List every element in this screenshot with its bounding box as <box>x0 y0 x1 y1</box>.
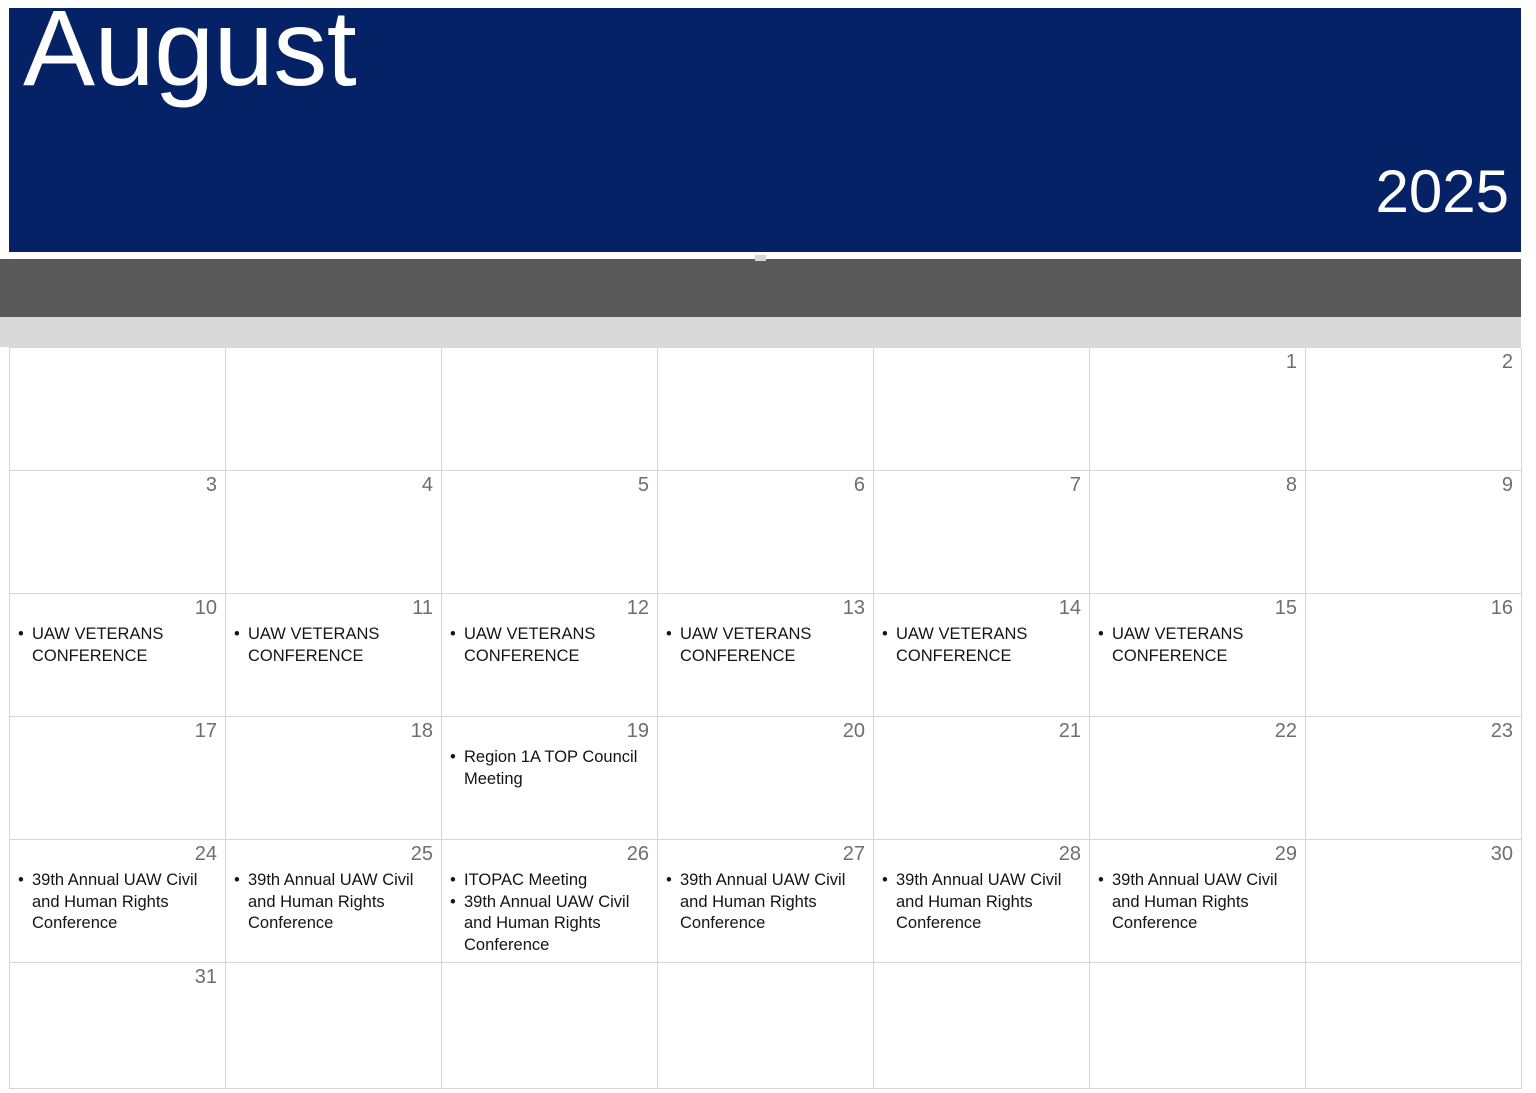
event-list: 39th Annual UAW Civil and Human Rights C… <box>880 870 1085 935</box>
day-cell-7[interactable]: 7 <box>874 471 1090 594</box>
day-cell-9[interactable]: 9 <box>1306 471 1522 594</box>
event-item[interactable]: UAW VETERANS CONFERENCE <box>680 624 869 667</box>
day-cell-empty[interactable] <box>874 348 1090 471</box>
calendar-week-row: 2439th Annual UAW Civil and Human Rights… <box>10 840 1521 963</box>
day-number: 31 <box>195 965 217 989</box>
day-cell-20[interactable]: 20 <box>658 717 874 840</box>
day-number: 4 <box>422 473 433 497</box>
event-item[interactable]: 39th Annual UAW Civil and Human Rights C… <box>680 870 869 935</box>
event-list: UAW VETERANS CONFERENCE <box>880 624 1085 667</box>
day-number: 30 <box>1491 842 1513 866</box>
event-item[interactable]: 39th Annual UAW Civil and Human Rights C… <box>896 870 1085 935</box>
day-number: 8 <box>1286 473 1297 497</box>
calendar-week-row: 10UAW VETERANS CONFERENCE11UAW VETERANS … <box>10 594 1521 717</box>
day-number: 21 <box>1059 719 1081 743</box>
weekday-header-remnant <box>755 255 766 261</box>
event-item[interactable]: UAW VETERANS CONFERENCE <box>896 624 1085 667</box>
day-number: 3 <box>206 473 217 497</box>
event-list: UAW VETERANS CONFERENCE <box>664 624 869 667</box>
page-title: August <box>23 0 356 102</box>
day-number: 5 <box>638 473 649 497</box>
day-number: 6 <box>854 473 865 497</box>
day-number: 16 <box>1491 596 1513 620</box>
event-list: ITOPAC Meeting39th Annual UAW Civil and … <box>448 870 653 956</box>
day-cell-8[interactable]: 8 <box>1090 471 1306 594</box>
day-cell-2[interactable]: 2 <box>1306 348 1522 471</box>
day-cell-25[interactable]: 2539th Annual UAW Civil and Human Rights… <box>226 840 442 963</box>
day-cell-empty[interactable] <box>10 348 226 471</box>
event-list: 39th Annual UAW Civil and Human Rights C… <box>232 870 437 935</box>
event-item[interactable]: UAW VETERANS CONFERENCE <box>1112 624 1301 667</box>
day-number: 28 <box>1059 842 1081 866</box>
day-number: 12 <box>627 596 649 620</box>
day-cell-empty[interactable] <box>442 348 658 471</box>
day-number: 1 <box>1286 350 1297 374</box>
day-number: 24 <box>195 842 217 866</box>
day-cell-14[interactable]: 14UAW VETERANS CONFERENCE <box>874 594 1090 717</box>
day-cell-19[interactable]: 19Region 1A TOP Council Meeting <box>442 717 658 840</box>
day-number: 18 <box>411 719 433 743</box>
day-cell-22[interactable]: 22 <box>1090 717 1306 840</box>
event-list: 39th Annual UAW Civil and Human Rights C… <box>664 870 869 935</box>
day-number: 22 <box>1275 719 1297 743</box>
day-number: 9 <box>1502 473 1513 497</box>
event-list: 39th Annual UAW Civil and Human Rights C… <box>16 870 221 935</box>
day-cell-empty[interactable] <box>658 348 874 471</box>
event-item[interactable]: 39th Annual UAW Civil and Human Rights C… <box>248 870 437 935</box>
day-cell-4[interactable]: 4 <box>226 471 442 594</box>
day-cell-12[interactable]: 12UAW VETERANS CONFERENCE <box>442 594 658 717</box>
day-number: 29 <box>1275 842 1297 866</box>
day-cell-1[interactable]: 1 <box>1090 348 1306 471</box>
event-item[interactable]: UAW VETERANS CONFERENCE <box>464 624 653 667</box>
day-cell-empty[interactable] <box>226 963 442 1089</box>
calendar-week-row: 171819Region 1A TOP Council Meeting20212… <box>10 717 1521 840</box>
day-number: 23 <box>1491 719 1513 743</box>
day-cell-17[interactable]: 17 <box>10 717 226 840</box>
day-cell-empty[interactable] <box>658 963 874 1089</box>
day-number: 10 <box>195 596 217 620</box>
event-item[interactable]: 39th Annual UAW Civil and Human Rights C… <box>32 870 221 935</box>
day-cell-31[interactable]: 31 <box>10 963 226 1089</box>
day-number: 13 <box>843 596 865 620</box>
day-number: 20 <box>843 719 865 743</box>
calendar-week-row: 12 <box>10 348 1521 471</box>
day-cell-empty[interactable] <box>1306 963 1522 1089</box>
day-cell-27[interactable]: 2739th Annual UAW Civil and Human Rights… <box>658 840 874 963</box>
calendar-week-row: 3456789 <box>10 471 1521 594</box>
calendar-grid: 12345678910UAW VETERANS CONFERENCE11UAW … <box>9 347 1521 1089</box>
event-list: UAW VETERANS CONFERENCE <box>16 624 221 667</box>
calendar-week-row: 31 <box>10 963 1521 1089</box>
day-cell-6[interactable]: 6 <box>658 471 874 594</box>
day-number: 19 <box>627 719 649 743</box>
event-list: 39th Annual UAW Civil and Human Rights C… <box>1096 870 1301 935</box>
day-number: 7 <box>1070 473 1081 497</box>
day-cell-empty[interactable] <box>874 963 1090 1089</box>
event-list: UAW VETERANS CONFERENCE <box>448 624 653 667</box>
event-item[interactable]: ITOPAC Meeting <box>464 870 653 892</box>
event-item[interactable]: UAW VETERANS CONFERENCE <box>248 624 437 667</box>
event-item[interactable]: Region 1A TOP Council Meeting <box>464 747 653 790</box>
event-item[interactable]: 39th Annual UAW Civil and Human Rights C… <box>1112 870 1301 935</box>
day-cell-empty[interactable] <box>442 963 658 1089</box>
day-number: 11 <box>412 596 433 620</box>
day-number: 26 <box>627 842 649 866</box>
day-cell-18[interactable]: 18 <box>226 717 442 840</box>
event-list: Region 1A TOP Council Meeting <box>448 747 653 790</box>
day-cell-23[interactable]: 23 <box>1306 717 1522 840</box>
day-cell-29[interactable]: 2939th Annual UAW Civil and Human Rights… <box>1090 840 1306 963</box>
event-item[interactable]: UAW VETERANS CONFERENCE <box>32 624 221 667</box>
event-item[interactable]: 39th Annual UAW Civil and Human Rights C… <box>464 892 653 957</box>
day-cell-26[interactable]: 26ITOPAC Meeting39th Annual UAW Civil an… <box>442 840 658 963</box>
year-label: 2025 <box>1376 162 1509 222</box>
day-number: 27 <box>843 842 865 866</box>
day-cell-5[interactable]: 5 <box>442 471 658 594</box>
day-cell-30[interactable]: 30 <box>1306 840 1522 963</box>
day-number: 15 <box>1275 596 1297 620</box>
day-cell-empty[interactable] <box>226 348 442 471</box>
day-cell-11[interactable]: 11UAW VETERANS CONFERENCE <box>226 594 442 717</box>
calendar-masthead: August 2025 <box>9 8 1521 252</box>
event-list: UAW VETERANS CONFERENCE <box>1096 624 1301 667</box>
day-number: 2 <box>1502 350 1513 374</box>
day-cell-21[interactable]: 21 <box>874 717 1090 840</box>
day-number: 17 <box>195 719 217 743</box>
day-cell-13[interactable]: 13UAW VETERANS CONFERENCE <box>658 594 874 717</box>
calendar-page: August 2025 12345678910UAW VETERANS CONF… <box>0 0 1536 1093</box>
day-cell-10[interactable]: 10UAW VETERANS CONFERENCE <box>10 594 226 717</box>
day-number: 14 <box>1059 596 1081 620</box>
day-cell-16[interactable]: 16 <box>1306 594 1522 717</box>
event-list: UAW VETERANS CONFERENCE <box>232 624 437 667</box>
day-cell-15[interactable]: 15UAW VETERANS CONFERENCE <box>1090 594 1306 717</box>
day-number: 25 <box>411 842 433 866</box>
day-cell-3[interactable]: 3 <box>10 471 226 594</box>
day-cell-empty[interactable] <box>1090 963 1306 1089</box>
day-cell-28[interactable]: 2839th Annual UAW Civil and Human Rights… <box>874 840 1090 963</box>
light-divider-bar <box>0 317 1521 347</box>
dark-divider-bar <box>0 259 1521 317</box>
day-cell-24[interactable]: 2439th Annual UAW Civil and Human Rights… <box>10 840 226 963</box>
